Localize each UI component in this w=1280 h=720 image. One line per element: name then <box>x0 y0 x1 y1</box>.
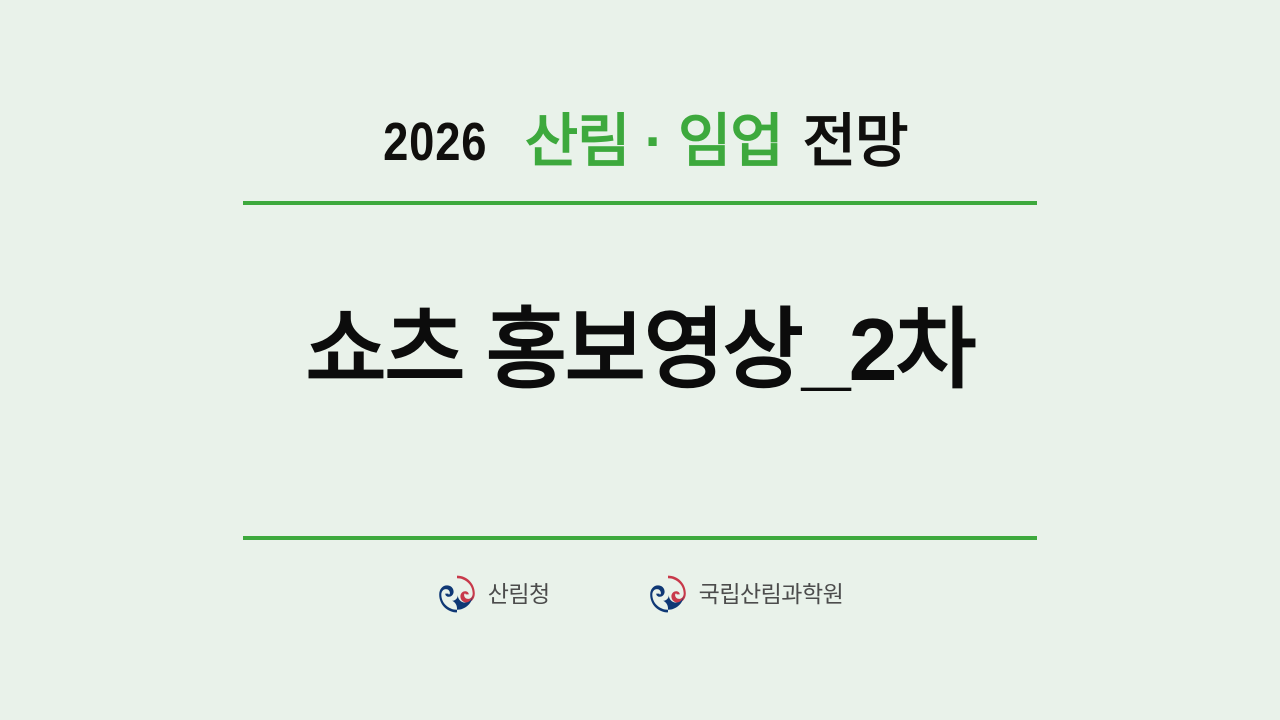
taegeuk-icon <box>437 574 477 614</box>
logo-nifos: 국립산림과학원 <box>648 574 844 614</box>
logo-strip: 산림청 국립산림과학원 <box>0 574 1280 614</box>
slide-header: 2026 산림 · 임업 전망 <box>0 100 1280 184</box>
divider-bottom <box>243 536 1037 540</box>
logo-label-nifos: 국립산림과학원 <box>699 583 844 606</box>
page-title: 쇼츠 홍보영상_2차 <box>0 300 1280 400</box>
header-subject-black: 전망 <box>803 113 908 171</box>
logo-label-korea-forest-service: 산림청 <box>488 583 550 606</box>
header-year: 2026 <box>383 115 489 169</box>
title-slide: 2026 산림 · 임업 전망 쇼츠 홍보영상_2차 산림청 국립산림과학원 <box>0 0 1280 720</box>
taegeuk-icon <box>648 574 688 614</box>
logo-korea-forest-service: 산림청 <box>437 574 550 614</box>
header-subject-green: 산림 · 임업 <box>525 113 783 171</box>
divider-top <box>243 201 1037 205</box>
